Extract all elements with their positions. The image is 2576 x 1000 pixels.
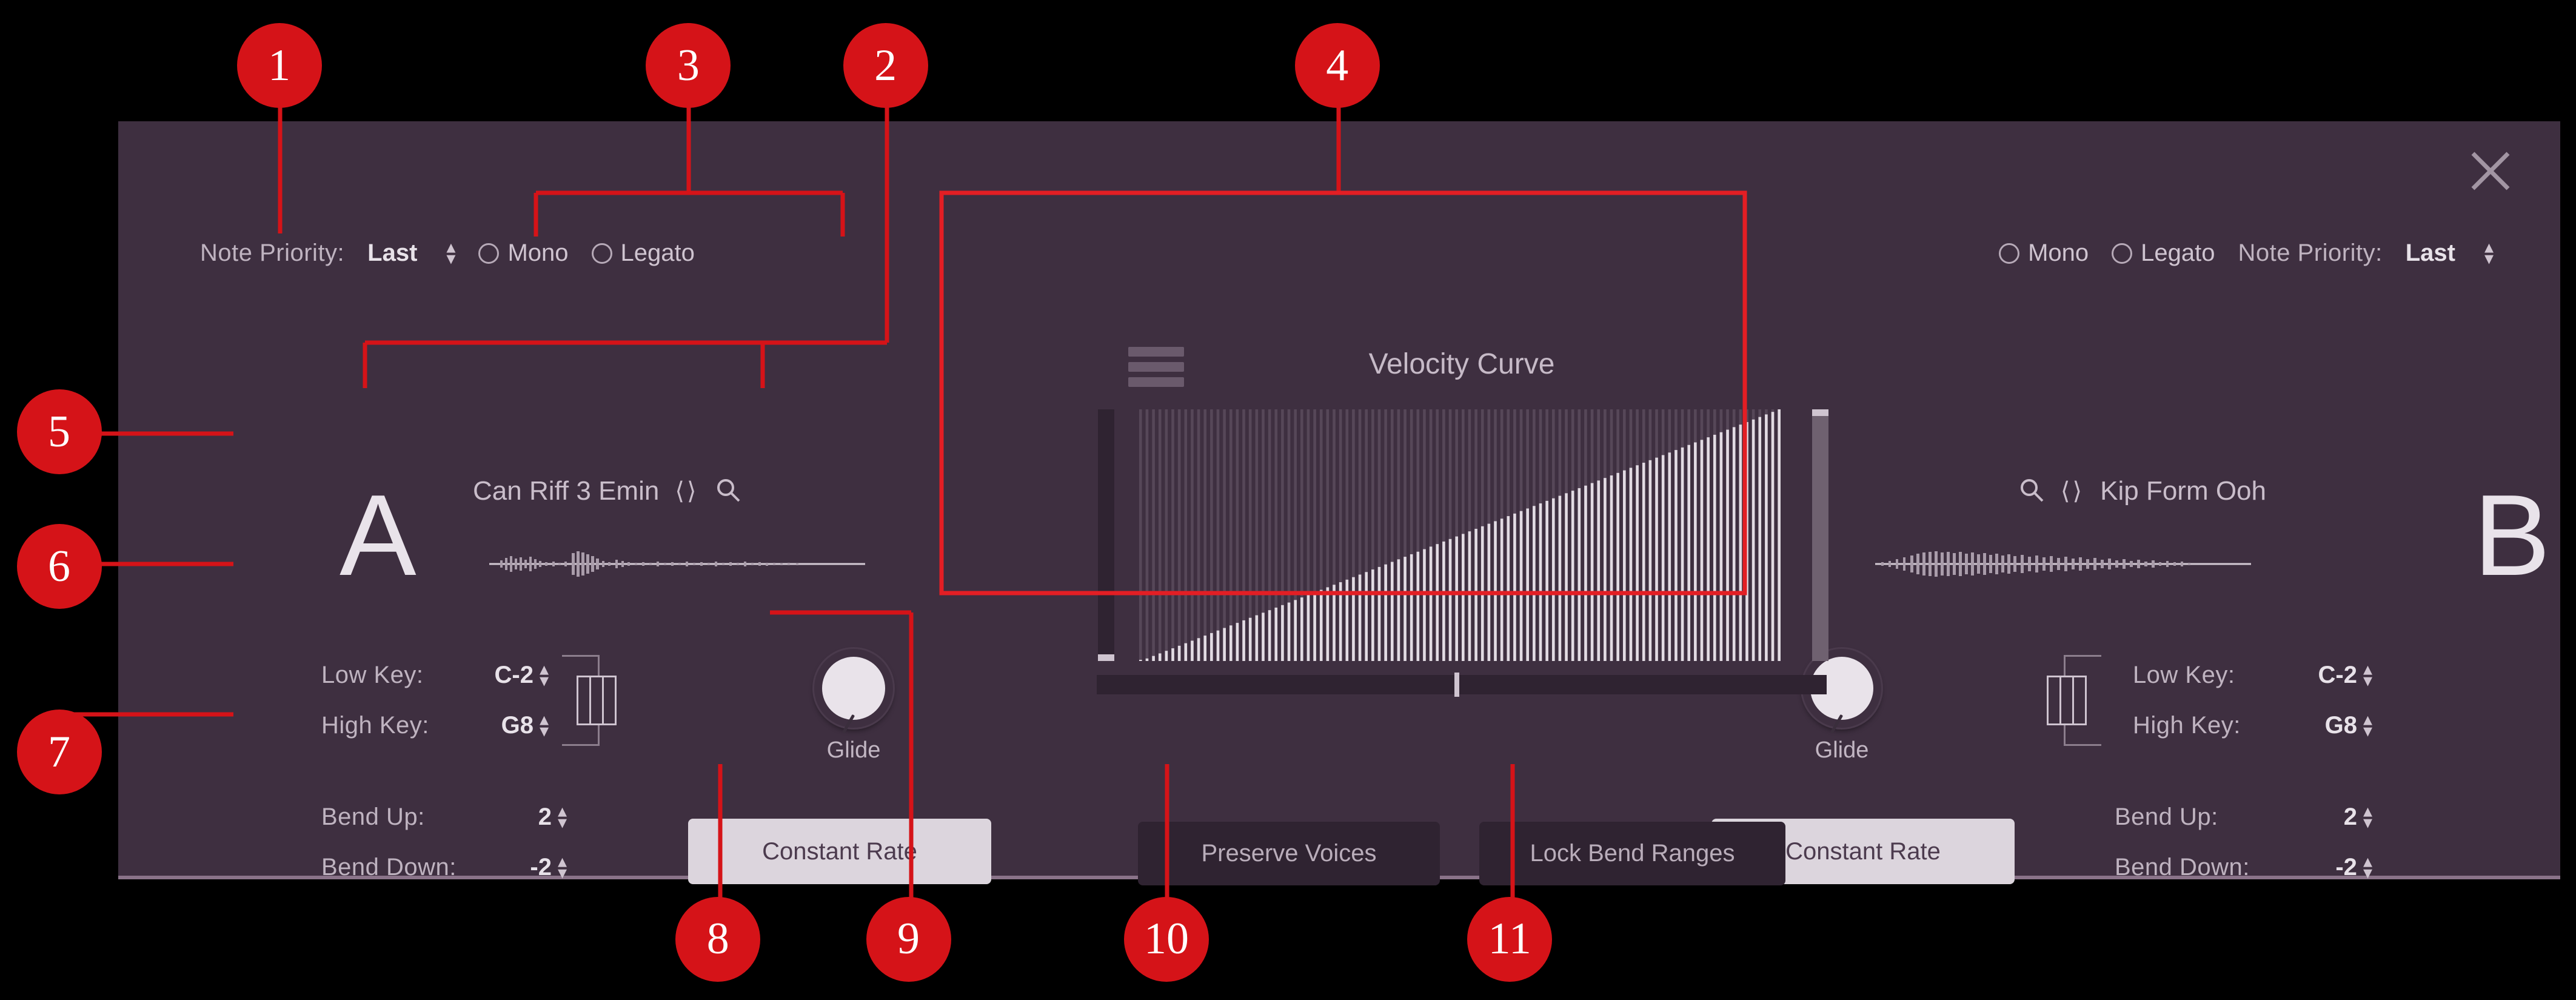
glide-control-a: Glide — [796, 649, 911, 763]
sound-name-b[interactable]: Kip Form Ooh — [2100, 476, 2266, 506]
mono-label-left: Mono — [507, 240, 568, 267]
piano-keys-icon — [577, 676, 617, 725]
high-key-row-b: High Key: G8 ▴ ▾ — [2133, 712, 2372, 739]
note-priority-label-right: Note Priority: — [2238, 240, 2383, 267]
bend-up-stepper-a[interactable]: ▴ ▾ — [558, 806, 567, 828]
sound-selector-a: Can Riff 3 Emin ⟨⟩ — [473, 476, 741, 506]
sound-prev-next-a[interactable]: ⟨⟩ — [675, 477, 698, 505]
knob-pointer — [1830, 714, 1843, 734]
low-key-stepper-a[interactable]: ▴ ▾ — [540, 664, 549, 686]
chevron-down-icon: ▾ — [446, 253, 455, 265]
bend-range-a: Bend Up: 2 ▴ ▾ Bend Down: -2 ▴ ▾ — [321, 804, 567, 881]
velocity-curve-plot[interactable] — [1139, 409, 1784, 661]
mono-label-right: Mono — [2028, 240, 2089, 267]
velocity-output-slider[interactable] — [1812, 409, 1828, 661]
chevron-down-icon: ▾ — [540, 726, 549, 737]
waveform-preview-b[interactable] — [1875, 546, 2251, 582]
note-priority-row-left: Note Priority: Last ▴ ▾ Mono Legato — [200, 240, 695, 267]
velocity-curve-amount-slider[interactable] — [1097, 675, 1827, 694]
chevron-down-icon: ▾ — [2363, 676, 2372, 687]
annotation-badge-2: 2 — [843, 23, 928, 108]
note-priority-row-right: Mono Legato Note Priority: Last ▴ ▾ — [1999, 240, 2494, 267]
note-priority-stepper-right[interactable]: ▴ ▾ — [2484, 242, 2494, 264]
bend-up-stepper-b[interactable]: ▴ ▾ — [2363, 806, 2372, 828]
bend-up-label-b: Bend Up: — [2115, 804, 2284, 831]
knob-face — [822, 657, 885, 720]
slider-handle[interactable] — [1098, 654, 1114, 661]
lock-bend-ranges-button[interactable]: Lock Bend Ranges — [1479, 822, 1785, 885]
glide-label-b: Glide — [1784, 737, 1899, 763]
low-key-value-a[interactable]: C-2 — [458, 662, 534, 689]
low-key-stepper-b[interactable]: ▴ ▾ — [2363, 664, 2372, 686]
sound-prev-next-b[interactable]: ⟨⟩ — [2061, 477, 2084, 505]
chevron-down-icon: ▾ — [558, 868, 567, 879]
annotation-badge-4: 4 — [1295, 23, 1380, 108]
annotation-badge-7: 7 — [17, 710, 102, 794]
chevron-down-icon: ▾ — [558, 817, 567, 829]
sound-selector-b: ⟨⟩ Kip Form Ooh — [2018, 476, 2266, 506]
bend-up-value-b[interactable]: 2 — [2284, 804, 2357, 831]
legato-label-left: Legato — [621, 240, 695, 267]
high-key-value-a[interactable]: G8 — [458, 712, 534, 739]
close-button[interactable] — [2468, 149, 2513, 193]
bend-down-value-b[interactable]: -2 — [2284, 854, 2357, 881]
low-key-value-b[interactable]: C-2 — [2281, 662, 2357, 689]
radio-circle-icon — [1999, 243, 2019, 264]
sound-name-a[interactable]: Can Riff 3 Emin — [473, 476, 659, 506]
bend-down-label-a: Bend Down: — [321, 854, 479, 881]
low-key-label-b: Low Key: — [2133, 662, 2281, 689]
radio-circle-icon — [2112, 243, 2132, 264]
piano-keys-icon-a[interactable] — [549, 655, 615, 746]
piano-keys-icon — [2047, 676, 2087, 725]
annotation-badge-11: 11 — [1467, 897, 1552, 982]
key-range-b: Low Key: C-2 ▴ ▾ High Key: G8 ▴ ▾ — [2048, 655, 2372, 746]
chevron-down-icon: ▾ — [2484, 253, 2494, 265]
low-key-label-a: Low Key: — [321, 662, 458, 689]
annotation-badge-9: 9 — [866, 897, 951, 982]
annotation-badge-1: 1 — [237, 23, 322, 108]
key-range-a: Low Key: C-2 ▴ ▾ High Key: G8 ▴ ▾ — [321, 655, 615, 746]
high-key-row-a: High Key: G8 ▴ ▾ — [321, 712, 549, 739]
chevron-down-icon: ▾ — [540, 676, 549, 687]
annotation-badge-5: 5 — [17, 389, 102, 474]
annotation-badge-3: 3 — [646, 23, 731, 108]
note-priority-stepper-left[interactable]: ▴ ▾ — [446, 242, 455, 264]
search-icon[interactable] — [715, 477, 741, 506]
bend-up-label-a: Bend Up: — [321, 804, 479, 831]
piano-keys-icon-b[interactable] — [2048, 655, 2115, 746]
annotation-badge-8: 8 — [675, 897, 760, 982]
chevron-down-icon: ▾ — [2363, 868, 2372, 879]
search-icon[interactable] — [2018, 477, 2045, 506]
mono-toggle-right[interactable]: Mono — [1999, 240, 2089, 267]
bend-up-row-b: Bend Up: 2 ▴ ▾ — [2115, 804, 2372, 831]
bend-down-row-a: Bend Down: -2 ▴ ▾ — [321, 854, 567, 881]
high-key-label-b: High Key: — [2133, 712, 2281, 739]
annotation-badge-6: 6 — [17, 524, 102, 609]
note-priority-label-left: Note Priority: — [200, 240, 344, 267]
bend-range-b: Bend Up: 2 ▴ ▾ Bend Down: -2 ▴ ▾ — [2115, 804, 2372, 881]
velocity-curve-bars — [1139, 409, 1784, 661]
waveform-preview-a[interactable] — [489, 546, 865, 582]
velocity-curve-title: Velocity Curve — [1062, 347, 1862, 381]
low-key-row-a: Low Key: C-2 ▴ ▾ — [321, 662, 549, 689]
velocity-curve-module: Velocity Curve — [1062, 312, 1862, 713]
high-key-label-a: High Key: — [321, 712, 458, 739]
slider-handle[interactable] — [1454, 673, 1459, 697]
velocity-input-slider[interactable] — [1098, 409, 1114, 661]
close-icon — [2468, 149, 2513, 193]
knob-pointer — [842, 714, 855, 734]
legato-toggle-right[interactable]: Legato — [2112, 240, 2215, 267]
bend-down-label-b: Bend Down: — [2115, 854, 2284, 881]
legato-toggle-left[interactable]: Legato — [592, 240, 695, 267]
radio-circle-icon — [592, 243, 612, 264]
radio-circle-icon — [478, 243, 499, 264]
note-priority-value-right[interactable]: Last — [2406, 240, 2455, 267]
high-key-stepper-b[interactable]: ▴ ▾ — [2363, 714, 2372, 737]
bend-up-row-a: Bend Up: 2 ▴ ▾ — [321, 804, 567, 831]
high-key-stepper-a[interactable]: ▴ ▾ — [540, 714, 549, 737]
glide-label-a: Glide — [796, 737, 911, 763]
bend-down-stepper-b[interactable]: ▴ ▾ — [2363, 856, 2372, 879]
preserve-voices-button[interactable]: Preserve Voices — [1138, 822, 1440, 885]
channel-letter-b: B — [2474, 478, 2551, 593]
constant-rate-button-a[interactable]: Constant Rate — [688, 819, 991, 884]
bend-down-row-b: Bend Down: -2 ▴ ▾ — [2115, 854, 2372, 881]
voice-settings-panel: Note Priority: Last ▴ ▾ Mono Legato Mono… — [118, 121, 2560, 879]
mono-toggle-left[interactable]: Mono — [478, 240, 568, 267]
chevron-down-icon: ▾ — [2363, 726, 2372, 737]
channel-letter-a: A — [340, 478, 417, 593]
note-priority-value-left[interactable]: Last — [367, 240, 417, 267]
bend-down-stepper-a[interactable]: ▴ ▾ — [558, 856, 567, 879]
low-key-row-b: Low Key: C-2 ▴ ▾ — [2133, 662, 2372, 689]
chevron-down-icon: ▾ — [2363, 817, 2372, 829]
high-key-value-b[interactable]: G8 — [2281, 712, 2357, 739]
bend-up-value-a[interactable]: 2 — [479, 804, 552, 831]
legato-label-right: Legato — [2141, 240, 2215, 267]
glide-knob-a[interactable] — [814, 649, 893, 728]
slider-handle[interactable] — [1812, 409, 1828, 416]
annotation-badge-10: 10 — [1124, 897, 1209, 982]
bend-down-value-a[interactable]: -2 — [479, 854, 552, 881]
